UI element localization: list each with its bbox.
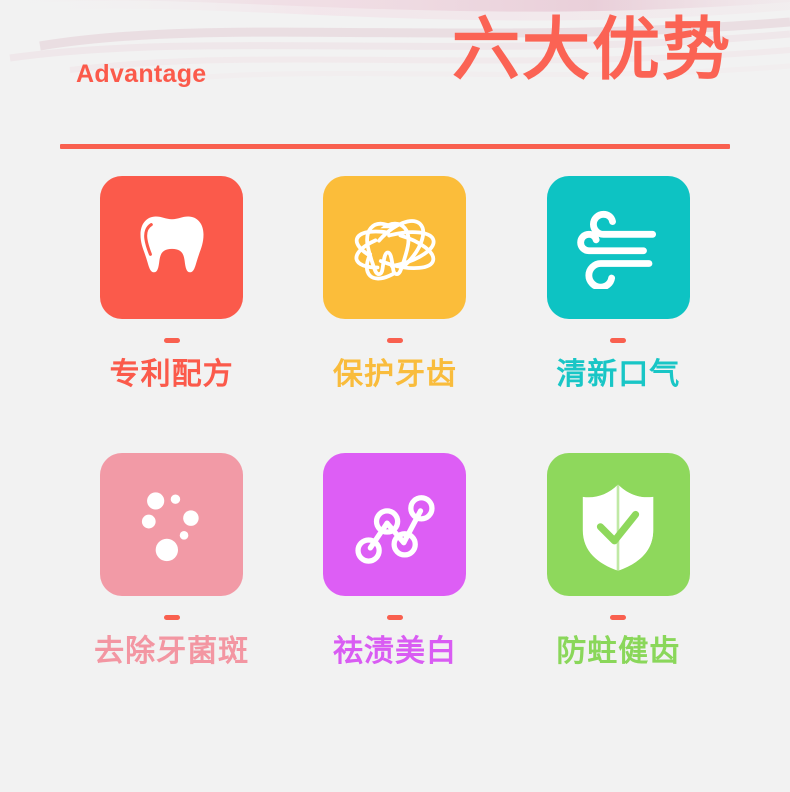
label-dash [164, 615, 180, 620]
feature-tile [547, 176, 690, 319]
feature-card-remove-plaque[interactable]: 去除牙菌斑 [60, 453, 283, 670]
feature-card-protect-teeth[interactable]: 保护牙齿 [283, 176, 506, 393]
feature-card-patented-formula[interactable]: 专利配方 [60, 176, 283, 393]
feature-card-whitening[interactable]: 祛渍美白 [283, 453, 506, 670]
label-dash [610, 615, 626, 620]
label-dash [387, 338, 403, 343]
feature-tile [100, 176, 243, 319]
label-dash [387, 615, 403, 620]
tooth-icon [127, 203, 217, 293]
feature-tile [100, 453, 243, 596]
feature-label: 去除牙菌斑 [94, 626, 249, 670]
feature-label: 专利配方 [110, 349, 234, 393]
header-divider [60, 144, 730, 149]
feature-label: 祛渍美白 [333, 626, 457, 670]
label-dash [610, 338, 626, 343]
feature-tile [323, 453, 466, 596]
node-graph-icon [351, 481, 439, 569]
feature-label: 清新口气 [556, 349, 680, 393]
wind-icon [572, 207, 664, 289]
feature-label: 保护牙齿 [333, 349, 457, 393]
plaque-dots-icon [129, 482, 215, 568]
shield-check-icon [574, 479, 662, 571]
tooth-shield-orbit-icon [345, 203, 445, 293]
page-header: Advantage 六大优势 [0, 0, 790, 160]
page-title: 六大优势 [452, 15, 732, 86]
label-dash [164, 338, 180, 343]
feature-tile [323, 176, 466, 319]
feature-grid: 专利配方 保护牙齿 [0, 176, 790, 670]
feature-tile [547, 453, 690, 596]
feature-card-fresh-breath[interactable]: 清新口气 [507, 176, 730, 393]
feature-label: 防蛀健齿 [556, 626, 680, 670]
header-english-title: Advantage [76, 60, 207, 89]
feature-card-cavity-prevention[interactable]: 防蛀健齿 [507, 453, 730, 670]
